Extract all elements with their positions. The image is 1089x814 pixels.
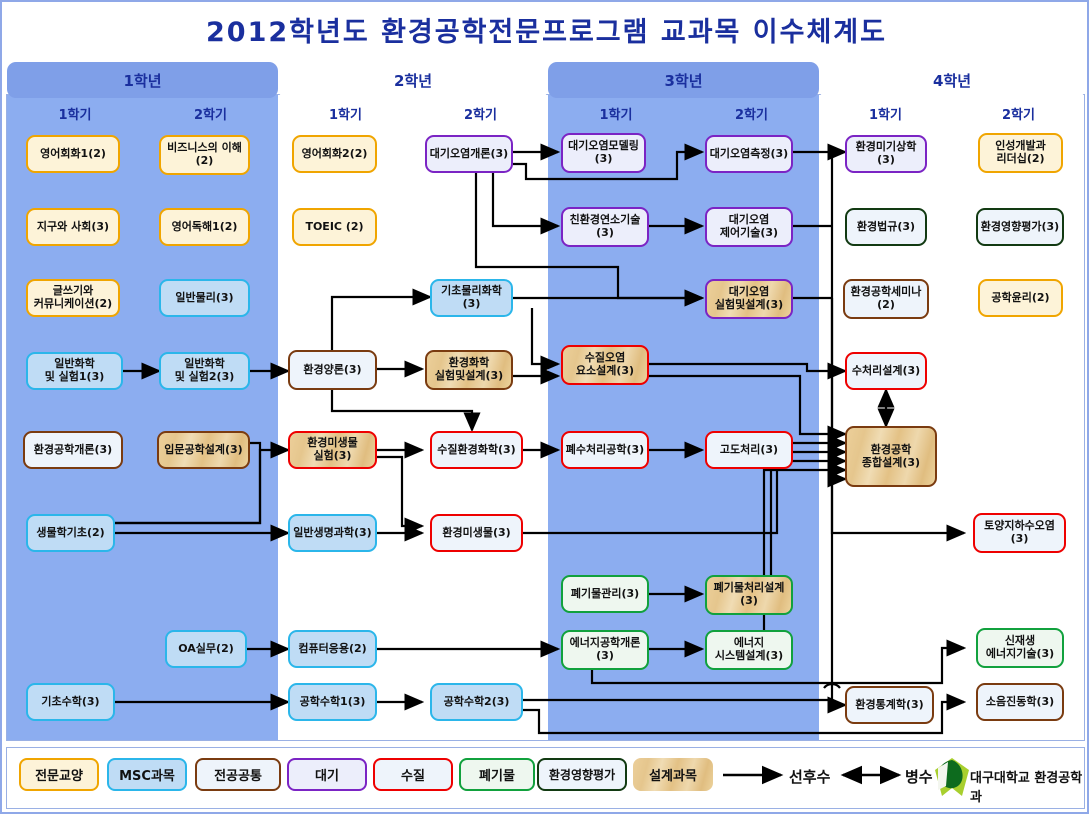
course-label: 생물학기초(2) [36, 527, 104, 540]
course-node[interactable]: 기초물리화학(3) [430, 279, 513, 317]
course-label: 환경화학실험및설계(3) [435, 357, 503, 382]
course-node[interactable]: 글쓰기와커뮤니케이션(2) [26, 279, 120, 317]
course-label: 대기오염측정(3) [710, 148, 788, 161]
course-label: 공학수학1(3) [300, 696, 366, 709]
course-node[interactable]: 소음진동학(3) [976, 683, 1064, 721]
course-label: 환경영향평가(3) [981, 221, 1059, 234]
course-node[interactable]: 환경법규(3) [845, 208, 927, 246]
course-node[interactable]: 환경영향평가(3) [976, 208, 1064, 246]
course-label: 에너지공학개론(3) [570, 637, 641, 662]
course-label: 환경법규(3) [857, 221, 915, 234]
course-node[interactable]: 공학윤리(2) [978, 279, 1063, 317]
course-node[interactable]: 환경미생물(3) [430, 514, 523, 552]
course-label: 입문공학설계(3) [164, 444, 242, 457]
course-node[interactable]: 컴퓨터응용(2) [288, 630, 377, 668]
course-label: 환경공학종합설계(3) [862, 444, 920, 469]
course-label: 수질오염요소설계(3) [576, 352, 634, 377]
course-node[interactable]: 대기오염제어기술(3) [705, 207, 793, 247]
course-label: 일반화학및 실험1(3) [45, 358, 105, 383]
course-label: 비즈니스의 이해(2) [167, 142, 242, 167]
course-label: 대기오염실험및설계(3) [715, 286, 783, 311]
course-node[interactable]: 공학수학2(3) [430, 683, 523, 721]
course-node[interactable]: 공학수학1(3) [288, 683, 377, 721]
course-node[interactable]: 일반화학및 실험2(3) [159, 352, 250, 390]
course-label: 대기오염제어기술(3) [720, 214, 778, 239]
course-label: 대기오염개론(3) [430, 148, 508, 161]
course-node[interactable]: 대기오염개론(3) [425, 135, 513, 173]
course-node[interactable]: 대기오염측정(3) [705, 135, 793, 173]
course-label: 기초물리화학(3) [434, 285, 509, 310]
course-label: 공학윤리(2) [991, 292, 1049, 305]
course-node[interactable]: 토양지하수오염(3) [973, 513, 1066, 553]
course-node[interactable]: 폐기물관리(3) [561, 575, 649, 613]
course-label: 환경미생물실험(3) [307, 437, 358, 462]
course-node[interactable]: 비즈니스의 이해(2) [159, 135, 250, 175]
course-node[interactable]: 에너지시스템설계(3) [705, 630, 793, 670]
course-label: 기초수학(3) [41, 696, 99, 709]
course-label: 공학수학2(3) [444, 696, 510, 709]
course-label: 영어회화2(2) [302, 148, 368, 161]
course-label: 글쓰기와커뮤니케이션(2) [34, 285, 112, 310]
course-label: 환경통계학(3) [855, 699, 923, 712]
course-node[interactable]: 인성개발과리더십(2) [978, 133, 1063, 173]
course-label: 폐수처리공학(3) [566, 444, 644, 457]
curriculum-flowchart-page: 2012학년도 환경공학전문프로그램 교과목 이수체계도 1학년 2학년 3학년… [0, 0, 1089, 814]
course-label: 일반생명과학(3) [293, 527, 371, 540]
course-node[interactable]: 폐수처리공학(3) [561, 431, 649, 469]
course-node[interactable]: 에너지공학개론(3) [561, 630, 649, 670]
course-label: 일반화학및 실험2(3) [175, 358, 235, 383]
course-label: 폐기물처리설계(3) [714, 582, 785, 607]
course-node[interactable]: 기초수학(3) [26, 683, 115, 721]
course-label: 환경미생물(3) [442, 527, 510, 540]
course-label: 일반물리(3) [175, 292, 233, 305]
course-node[interactable]: 환경통계학(3) [845, 686, 934, 724]
course-node[interactable]: 대기오염모델링(3) [561, 133, 646, 173]
course-label: 대기오염모델링(3) [568, 140, 639, 165]
course-node[interactable]: 수처리설계(3) [845, 352, 927, 390]
course-label: 컴퓨터응용(2) [298, 643, 366, 656]
course-label: 신재생에너지기술(3) [986, 635, 1054, 660]
course-node[interactable]: 대기오염실험및설계(3) [705, 279, 793, 319]
course-label: 토양지하수오염(3) [984, 520, 1055, 545]
course-label: 에너지시스템설계(3) [715, 637, 783, 662]
course-label: 수처리설계(3) [852, 365, 920, 378]
course-label: 인성개발과리더십(2) [995, 140, 1046, 165]
course-label: 환경공학개론(3) [34, 444, 112, 457]
course-node[interactable]: 환경양론(3) [288, 350, 377, 390]
course-node[interactable]: 영어회화1(2) [26, 135, 120, 173]
course-node[interactable]: OA실무(2) [165, 630, 247, 668]
course-label: 친환경연소기술(3) [570, 214, 641, 239]
course-node[interactable]: 신재생에너지기술(3) [976, 628, 1064, 668]
course-node[interactable]: 영어독해1(2) [159, 208, 250, 246]
course-label: TOEIC (2) [305, 221, 363, 234]
course-node[interactable]: 입문공학설계(3) [157, 431, 250, 469]
course-label: 지구와 사회(3) [37, 221, 109, 234]
course-node[interactable]: 환경공학종합설계(3) [845, 426, 937, 487]
course-node[interactable]: 고도처리(3) [705, 431, 793, 469]
course-label: 환경양론(3) [303, 364, 361, 377]
course-node[interactable]: 일반생명과학(3) [288, 514, 377, 552]
course-label: 영어독해1(2) [172, 221, 238, 234]
course-node[interactable]: 수질오염요소설계(3) [561, 345, 649, 385]
course-node[interactable]: 일반물리(3) [159, 279, 250, 317]
course-node[interactable]: 환경공학개론(3) [23, 431, 123, 469]
course-node[interactable]: TOEIC (2) [292, 208, 377, 246]
course-node[interactable]: 생물학기초(2) [26, 514, 115, 552]
course-node[interactable]: 환경미기상학(3) [845, 135, 927, 173]
course-node[interactable]: 수질환경화학(3) [430, 431, 523, 469]
course-node[interactable]: 친환경연소기술(3) [561, 207, 649, 247]
course-label: 소음진동학(3) [986, 696, 1054, 709]
course-label: 폐기물관리(3) [571, 588, 639, 601]
course-node[interactable]: 환경공학세미나(2) [843, 279, 929, 319]
course-node[interactable]: 환경화학실험및설계(3) [425, 350, 513, 390]
course-label: 환경미기상학(3) [849, 141, 923, 166]
course-label: 영어회화1(2) [40, 148, 106, 161]
course-node[interactable]: 일반화학및 실험1(3) [26, 352, 123, 390]
course-label: 수질환경화학(3) [437, 444, 515, 457]
course-label: 고도처리(3) [720, 444, 778, 457]
course-node[interactable]: 영어회화2(2) [292, 135, 377, 173]
course-node[interactable]: 지구와 사회(3) [26, 208, 120, 246]
course-label: 환경공학세미나(2) [851, 286, 922, 311]
course-label: OA실무(2) [178, 643, 234, 656]
course-node[interactable]: 폐기물처리설계(3) [705, 575, 793, 615]
course-node[interactable]: 환경미생물실험(3) [288, 431, 377, 469]
